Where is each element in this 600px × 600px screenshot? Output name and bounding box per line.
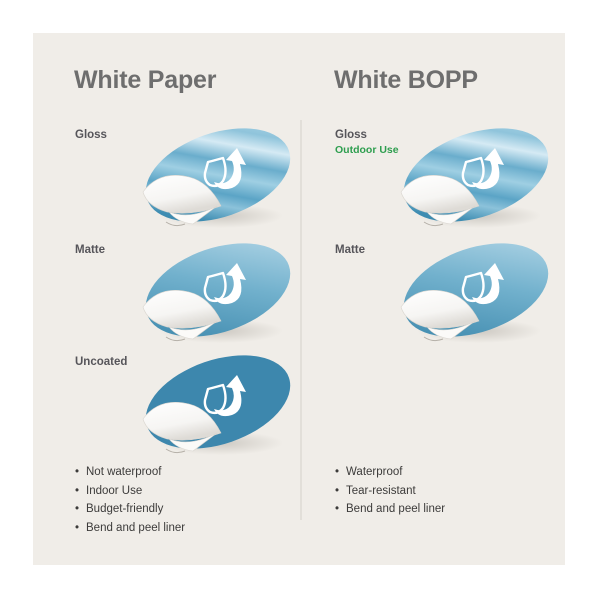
feature-list-white-bopp: •Waterproof •Tear-resistant •Bend and pe… (335, 463, 445, 519)
finish-row-paper-matte: Matte (33, 243, 299, 355)
sticker-illustration-gloss (391, 120, 561, 238)
finish-row-paper-gloss: Gloss (33, 128, 299, 240)
list-item-label: Indoor Use (86, 485, 142, 497)
finish-row-bopp-matte: Matte (299, 243, 565, 355)
sticker-illustration-matte (133, 235, 303, 353)
column-white-paper: White Paper Gloss (33, 33, 299, 565)
list-item-label: Not waterproof (86, 466, 161, 478)
list-item-label: Waterproof (346, 466, 402, 478)
column-white-bopp: White BOPP Gloss Outdoor Use (299, 33, 565, 565)
list-item: •Waterproof (335, 463, 445, 482)
list-item-label: Budget-friendly (86, 503, 163, 515)
list-item: •Budget-friendly (75, 500, 185, 519)
finish-row-bopp-gloss: Gloss Outdoor Use (299, 128, 565, 240)
list-item: •Bend and peel liner (75, 519, 185, 538)
list-item-label: Bend and peel liner (86, 522, 185, 534)
list-item-label: Bend and peel liner (346, 503, 445, 515)
list-item-label: Tear-resistant (346, 485, 416, 497)
list-item: •Indoor Use (75, 482, 185, 501)
bullet-glyph: • (75, 500, 79, 519)
bullet-glyph: • (75, 519, 79, 538)
sticker-illustration-gloss (133, 120, 303, 238)
sticker-illustration-uncoated (133, 347, 303, 465)
list-item: •Bend and peel liner (335, 500, 445, 519)
infographic-canvas: White Paper Gloss (0, 0, 600, 600)
column-title-white-bopp: White BOPP (334, 66, 478, 95)
finish-row-paper-uncoated: Uncoated (33, 355, 299, 467)
sticker-illustration-matte (391, 235, 561, 353)
column-title-white-paper: White Paper (74, 66, 216, 95)
bullet-glyph: • (75, 482, 79, 501)
list-item: •Not waterproof (75, 463, 185, 482)
bullet-glyph: • (335, 463, 339, 482)
bullet-glyph: • (335, 482, 339, 501)
list-item: •Tear-resistant (335, 482, 445, 501)
feature-list-white-paper: •Not waterproof •Indoor Use •Budget-frie… (75, 463, 185, 537)
bullet-glyph: • (335, 500, 339, 519)
bullet-glyph: • (75, 463, 79, 482)
